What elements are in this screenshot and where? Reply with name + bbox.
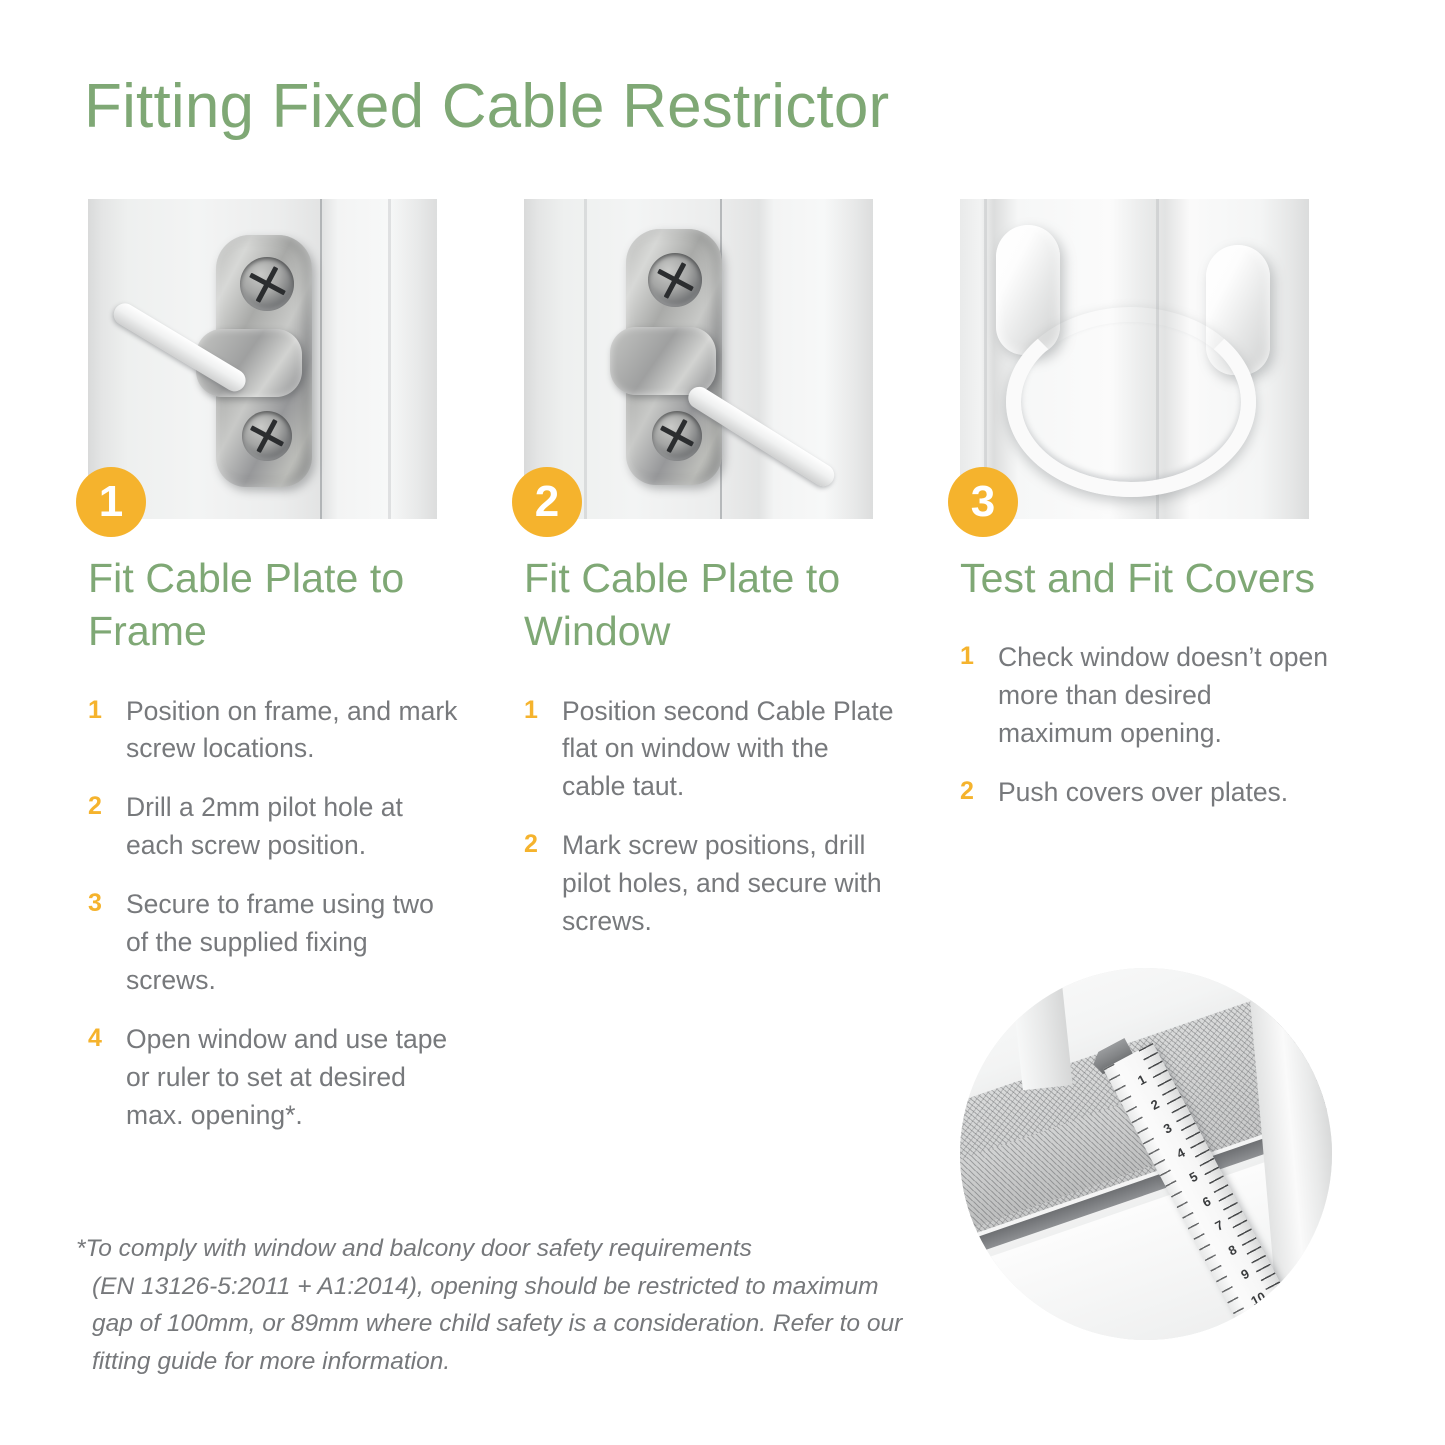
step-text: Drill a 2mm pilot hole at each screw pos… bbox=[126, 792, 403, 860]
list-item: 2 Drill a 2mm pilot hole at each screw p… bbox=[88, 789, 460, 865]
step-text: Position on frame, and mark screw locati… bbox=[126, 696, 457, 764]
screw-head-top-icon bbox=[240, 257, 294, 311]
column-heading: Fit Cable Plate to Window bbox=[524, 552, 896, 659]
step-badge-2: 2 bbox=[512, 467, 582, 537]
list-item: 2 Mark screw positions, drill pilot hole… bbox=[524, 827, 896, 941]
footnote-line-1: *To comply with window and balcony door … bbox=[76, 1230, 936, 1268]
footnote: *To comply with window and balcony door … bbox=[76, 1230, 936, 1381]
frame-edge-line-soft bbox=[584, 199, 587, 519]
cable-plate-on-window-photo bbox=[524, 199, 873, 519]
list-item: 1 Position second Cable Plate flat on wi… bbox=[524, 693, 896, 807]
step-number: 3 bbox=[88, 886, 116, 922]
screw-head-top-icon bbox=[648, 253, 702, 307]
column-heading: Fit Cable Plate to Frame bbox=[88, 552, 460, 659]
step-number: 1 bbox=[524, 693, 552, 729]
step-text: Push covers over plates. bbox=[998, 777, 1288, 807]
cable-boss bbox=[610, 327, 716, 395]
list-item: 3 Secure to frame using two of the suppl… bbox=[88, 886, 460, 1000]
step-text: Position second Cable Plate flat on wind… bbox=[562, 696, 893, 802]
step-list: 1 Check window doesn’t open more than de… bbox=[960, 639, 1332, 812]
cable-plate-on-frame-photo bbox=[88, 199, 437, 519]
footnote-line-3: gap of 100mm, or 89mm where child safety… bbox=[76, 1305, 936, 1343]
cable-loop bbox=[1006, 307, 1256, 497]
footnote-line-4: fitting guide for more information. bbox=[76, 1343, 936, 1381]
step-text: Check window doesn’t open more than desi… bbox=[998, 642, 1328, 748]
step-number: 2 bbox=[88, 789, 116, 825]
step-text: Mark screw positions, drill pilot holes,… bbox=[562, 830, 882, 936]
tape-measure-opening-photo: 12345678910 bbox=[960, 968, 1332, 1340]
step-number: 2 bbox=[960, 774, 988, 810]
list-item: 1 Check window doesn’t open more than de… bbox=[960, 639, 1332, 753]
step-text: Open window and use tape or ruler to set… bbox=[126, 1024, 447, 1130]
screw-head-bottom-icon bbox=[242, 411, 292, 461]
step-badge-3: 3 bbox=[948, 467, 1018, 537]
infographic-page: Fitting Fixed Cable Restrictor 1 2 3 Fit… bbox=[0, 0, 1445, 1445]
page-title: Fitting Fixed Cable Restrictor bbox=[84, 76, 889, 138]
list-item: 4 Open window and use tape or ruler to s… bbox=[88, 1021, 460, 1135]
column-fit-plate-to-window: Fit Cable Plate to Window 1 Position sec… bbox=[524, 552, 896, 962]
step-text: Secure to frame using two of the supplie… bbox=[126, 889, 434, 995]
step-list: 1 Position on frame, and mark screw loca… bbox=[88, 693, 460, 1135]
step-number: 2 bbox=[524, 827, 552, 863]
step-number: 1 bbox=[88, 693, 116, 729]
fitted-covers-photo bbox=[960, 199, 1309, 519]
screw-head-bottom-icon bbox=[652, 411, 702, 461]
step-number: 4 bbox=[88, 1021, 116, 1057]
frame-edge-line-soft bbox=[388, 199, 391, 519]
list-item: 2 Push covers over plates. bbox=[960, 774, 1332, 812]
list-item: 1 Position on frame, and mark screw loca… bbox=[88, 693, 460, 769]
step-number: 1 bbox=[960, 639, 988, 675]
column-fit-plate-to-frame: Fit Cable Plate to Frame 1 Position on f… bbox=[88, 552, 460, 1156]
footnote-line-2: (EN 13126-5:2011 + A1:2014), opening sho… bbox=[76, 1268, 936, 1306]
frame-edge-line bbox=[320, 199, 322, 519]
column-heading: Test and Fit Covers bbox=[960, 552, 1332, 605]
step-badge-1: 1 bbox=[76, 467, 146, 537]
step-list: 1 Position second Cable Plate flat on wi… bbox=[524, 693, 896, 941]
column-test-and-fit-covers: Test and Fit Covers 1 Check window doesn… bbox=[960, 552, 1332, 833]
